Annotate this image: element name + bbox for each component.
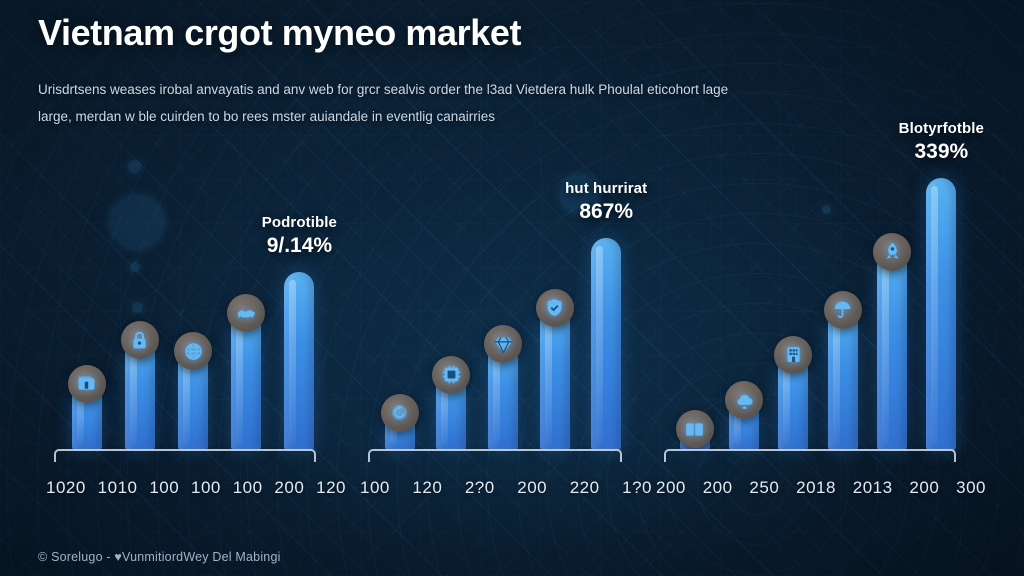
cards-icon (684, 419, 705, 440)
handshake-icon (236, 303, 257, 324)
bar-group-2: hut hurrirat867%1001202?02002201?0 (360, 140, 652, 540)
bar[interactable] (540, 307, 570, 450)
tick-label: 220 (570, 478, 600, 498)
tick-label: 100 (360, 478, 390, 498)
cards-icon-badge (676, 410, 714, 448)
callout-label: Blotyrfotble (856, 120, 1024, 137)
tick-label: 120 (316, 478, 346, 498)
page-title: Vietnam crgot myneo market (38, 12, 984, 54)
tick-label: 250 (749, 478, 779, 498)
callout-value: 9/.14% (214, 234, 384, 258)
tick-label: 2018 (796, 478, 836, 498)
server-icon (441, 364, 462, 385)
cloud-icon (734, 390, 755, 411)
shield-icon (544, 297, 565, 318)
wallet-icon-badge (68, 365, 106, 403)
group-axis-bracket (368, 449, 622, 462)
tick-label: 200 (517, 478, 547, 498)
bar-group-3: Blotyrfotble339%20020025020182013200300 (656, 140, 986, 540)
tick-label: 100 (191, 478, 221, 498)
rocket-icon (882, 241, 903, 262)
refresh-icon-badge (381, 394, 419, 432)
tick-label: 2?0 (465, 478, 495, 498)
rocket-icon-badge (873, 233, 911, 271)
bar-group-bars (46, 140, 346, 450)
callout-label: Podrotible (214, 214, 384, 231)
umbrella-icon-badge (824, 291, 862, 329)
tick-label: 200 (656, 478, 686, 498)
tick-label: 100 (149, 478, 179, 498)
gem-icon (493, 334, 514, 355)
callout-value: 339% (856, 140, 1024, 164)
tick-label: 120 (412, 478, 442, 498)
bar[interactable] (877, 251, 907, 450)
group-tick-labels: 20020025020182013200300 (656, 478, 986, 498)
bar-chart: Podrotible9/.14%10201010100100100200120h… (0, 140, 1024, 540)
group-callout: Blotyrfotble339% (856, 120, 1024, 164)
tick-label: 1020 (46, 478, 86, 498)
bar[interactable] (284, 272, 314, 450)
bar[interactable] (591, 238, 621, 450)
wallet-icon (76, 373, 97, 394)
header: Vietnam crgot myneo market Urisdrtsens w… (38, 12, 984, 130)
page-subtitle: Urisdrtsens weases irobal anvayatis and … (38, 76, 938, 130)
group-tick-labels: 10201010100100100200120 (46, 478, 346, 498)
tick-label: 200 (703, 478, 733, 498)
group-callout: Podrotible9/.14% (214, 214, 384, 258)
globe-icon (183, 341, 204, 362)
bar[interactable] (828, 309, 858, 450)
tick-label: 1010 (98, 478, 138, 498)
bar-group-1: Podrotible9/.14%10201010100100100200120 (46, 140, 346, 540)
subtitle-line-1: Urisdrtsens weases irobal anvayatis and … (38, 76, 938, 103)
building-icon (783, 344, 804, 365)
tick-label: 1?0 (622, 478, 652, 498)
footer-credit: © Sorelugo - ♥VunmitiordWey Del Mabingi (38, 550, 281, 564)
tick-label: 200 (274, 478, 304, 498)
infographic-canvas: Vietnam crgot myneo market Urisdrtsens w… (0, 0, 1024, 576)
umbrella-icon (832, 299, 853, 320)
gem-icon-badge (484, 325, 522, 363)
bar-group-bars (656, 140, 986, 450)
tick-label: 300 (956, 478, 986, 498)
refresh-icon (389, 402, 410, 423)
tick-label: 2013 (853, 478, 893, 498)
subtitle-line-2: large, merdan w ble cuirden to bo rees m… (38, 103, 938, 130)
bar[interactable] (926, 178, 956, 450)
group-tick-labels: 1001202?02002201?0 (360, 478, 652, 498)
tick-label: 100 (233, 478, 263, 498)
group-axis-bracket (664, 449, 956, 462)
shield-icon-badge (536, 289, 574, 327)
bar[interactable] (231, 312, 261, 450)
tick-label: 200 (909, 478, 939, 498)
lock-icon (129, 330, 150, 351)
group-axis-bracket (54, 449, 316, 462)
